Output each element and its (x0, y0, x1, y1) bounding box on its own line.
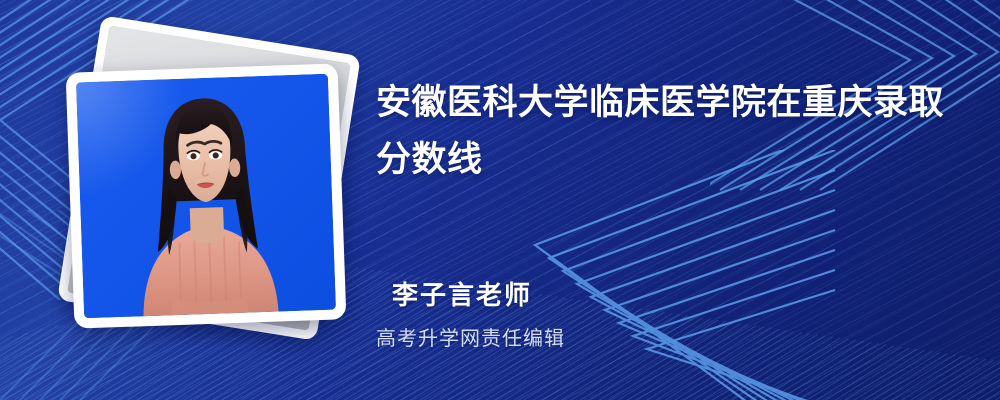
banner-text-column: 安徽医科大学临床医学院在重庆录取分数线 李子言老师 高考升学网责任编辑 (376, 0, 976, 400)
author-portrait-photo (76, 74, 336, 319)
author-role: 高考升学网责任编辑 (376, 322, 565, 351)
author-name: 李子言老师 (392, 275, 532, 312)
photo-stack (48, 26, 348, 336)
article-header-banner: 安徽医科大学临床医学院在重庆录取分数线 李子言老师 高考升学网责任编辑 (0, 0, 1000, 400)
photo-card-front (66, 63, 347, 328)
page-title: 安徽医科大学临床医学院在重庆录取分数线 (376, 74, 956, 188)
